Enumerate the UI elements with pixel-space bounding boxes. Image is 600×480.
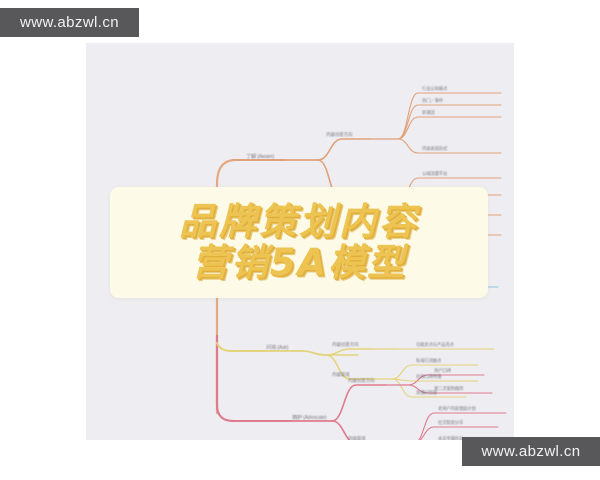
- node-advocate[interactable]: 拥护 (Advocate): [292, 414, 326, 421]
- leaf-advocate-ch-2[interactable]: 社交裂变分享: [438, 420, 463, 426]
- trunk-lower: [217, 336, 233, 421]
- leaf-ask-ch-1[interactable]: 私域引流触点: [416, 358, 441, 364]
- leaf-aware-2[interactable]: 热门／事件: [422, 98, 443, 104]
- leaf-aware-form[interactable]: 内容表现形式: [422, 146, 447, 152]
- leaf-ask-ch-2[interactable]: 社群口碑传播: [416, 374, 441, 380]
- leaf-aware-1[interactable]: 行业认知痛点: [422, 86, 447, 92]
- node-ask[interactable]: 问询 (Ask): [266, 344, 288, 351]
- node-aware-creative[interactable]: 内容创意方向: [326, 132, 352, 138]
- node-advocate-creative[interactable]: 内容创意方向: [348, 378, 374, 384]
- leaf-advocate-2[interactable]: 第二次复购推荐: [434, 386, 463, 392]
- title-card: 品牌策划内容 营销5A模型: [110, 187, 488, 298]
- leaf-aware-3[interactable]: 新潮流: [422, 110, 435, 116]
- leaf-advocate-1[interactable]: 用户口碑: [434, 368, 451, 374]
- screenshot-root: 了解 (Aware) 内容创意方向 内容渠道 行业认知痛点 热门／事件 新潮流 …: [0, 0, 600, 480]
- watermark-top-left: www.abzwl.cn: [0, 8, 139, 37]
- node-ask-channel[interactable]: 内容渠道: [332, 372, 350, 378]
- leaf-aware-ch-1[interactable]: 公域流量平台: [422, 171, 447, 177]
- node-aware[interactable]: 了解 (Aware): [246, 153, 274, 160]
- page-title-line-1: 品牌策划内容: [179, 203, 419, 241]
- leaf-ask-1[interactable]: 功能卖点与产品亮点: [416, 342, 454, 348]
- node-ask-creative[interactable]: 内容创意方向: [332, 342, 358, 348]
- leaf-advocate-ch-1[interactable]: 老用户内容激励计划: [438, 406, 476, 412]
- node-advocate-channel[interactable]: 内容渠道: [348, 436, 366, 440]
- watermark-bottom-right: www.abzwl.cn: [462, 437, 600, 466]
- leaf-advocate-ch-3[interactable]: 会员专属权益: [438, 436, 463, 440]
- page-title-line-2: 营销5A模型: [192, 244, 406, 282]
